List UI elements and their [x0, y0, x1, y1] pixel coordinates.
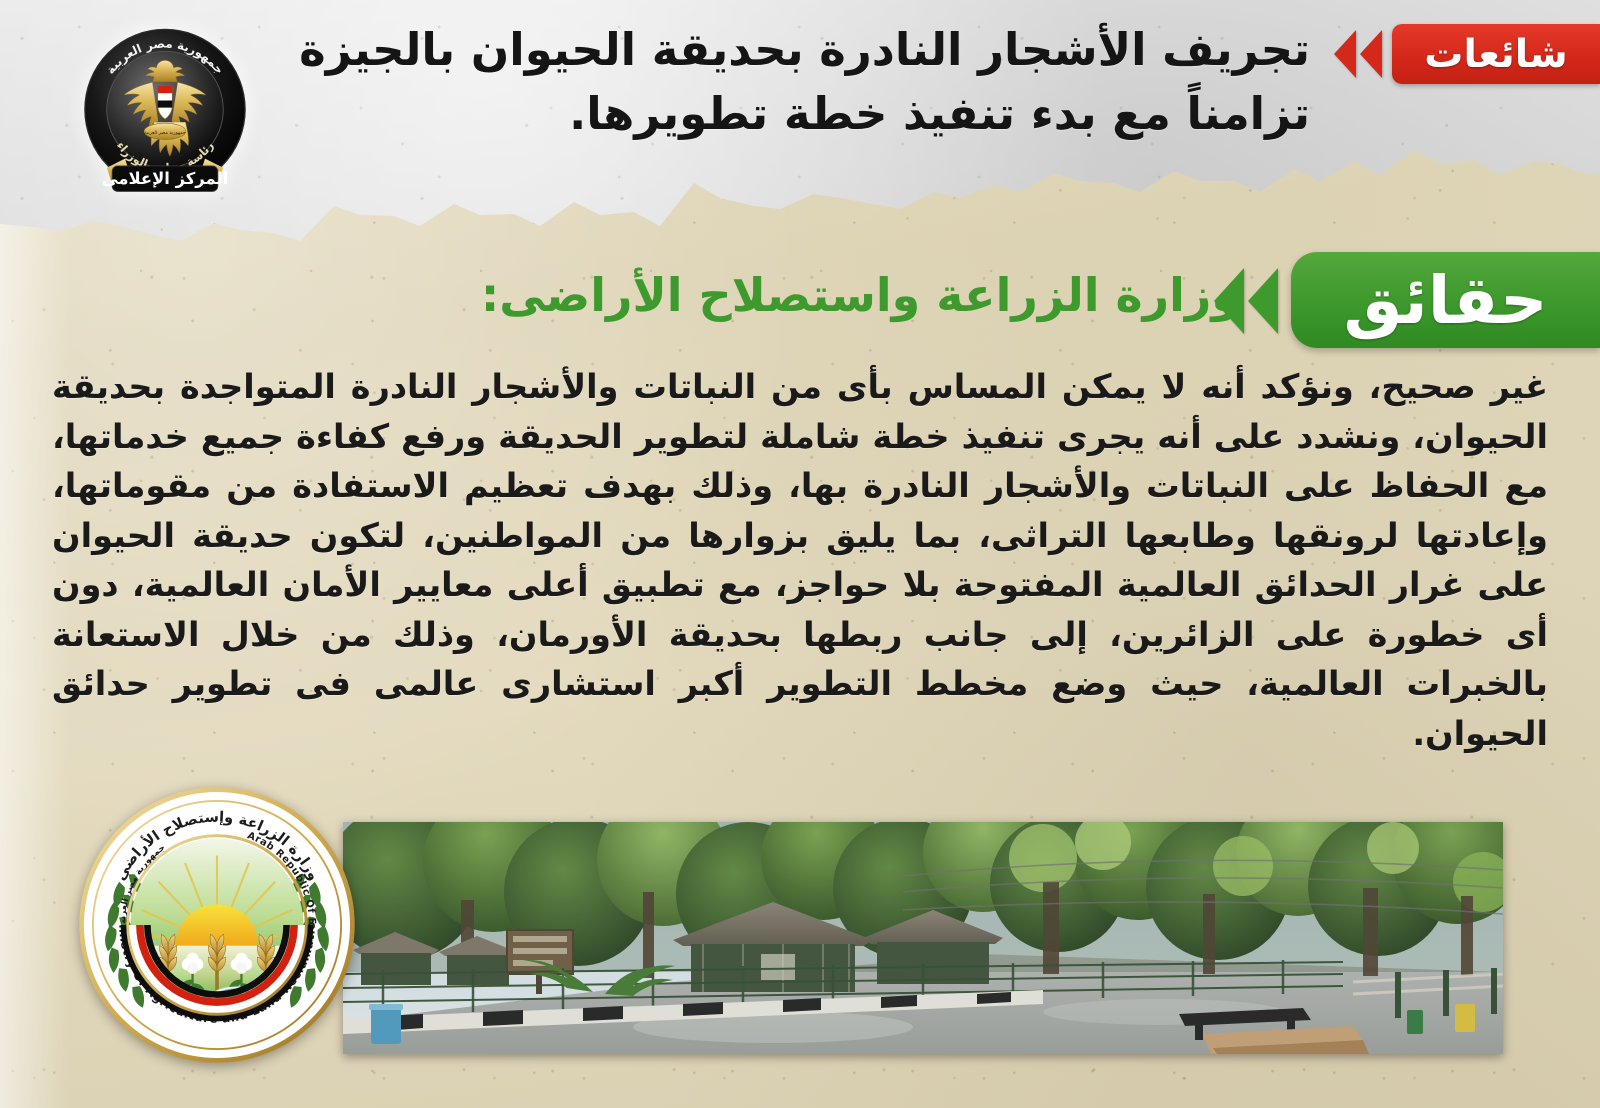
rumor-badge: شائعات: [1392, 24, 1600, 84]
svg-text:جمهورية مصر العربية: جمهورية مصر العربية: [144, 130, 186, 136]
egyptian-cabinet-media-center-logo: جمهورية مصر العربية رئاسة مجلس الوزراء ج…: [74, 22, 256, 208]
ministry-of-agriculture-and-land-reclamation-logo: وزارة الزراعة وإستصلاح الأراضى جمهورية م…: [76, 784, 358, 1066]
double-chevron-left-icon-red: [1334, 30, 1382, 78]
rumor-headline: تجريف الأشجار النادرة بحديقة الحيوان بال…: [240, 18, 1310, 146]
fact-source-label: وزارة الزراعة واستصلاح الأراضى:: [340, 268, 1240, 323]
infographic-page: جمهورية مصر العربية رئاسة مجلس الوزراء ج…: [0, 0, 1600, 1108]
facts-badge: حقائق: [1291, 252, 1600, 348]
fact-body-text: غير صحيح، ونؤكد أنه لا يمكن المساس بأى م…: [52, 362, 1548, 759]
giza-zoo-photograph: [343, 822, 1503, 1054]
svg-text:المركز الإعلامى: المركز الإعلامى: [102, 169, 228, 188]
